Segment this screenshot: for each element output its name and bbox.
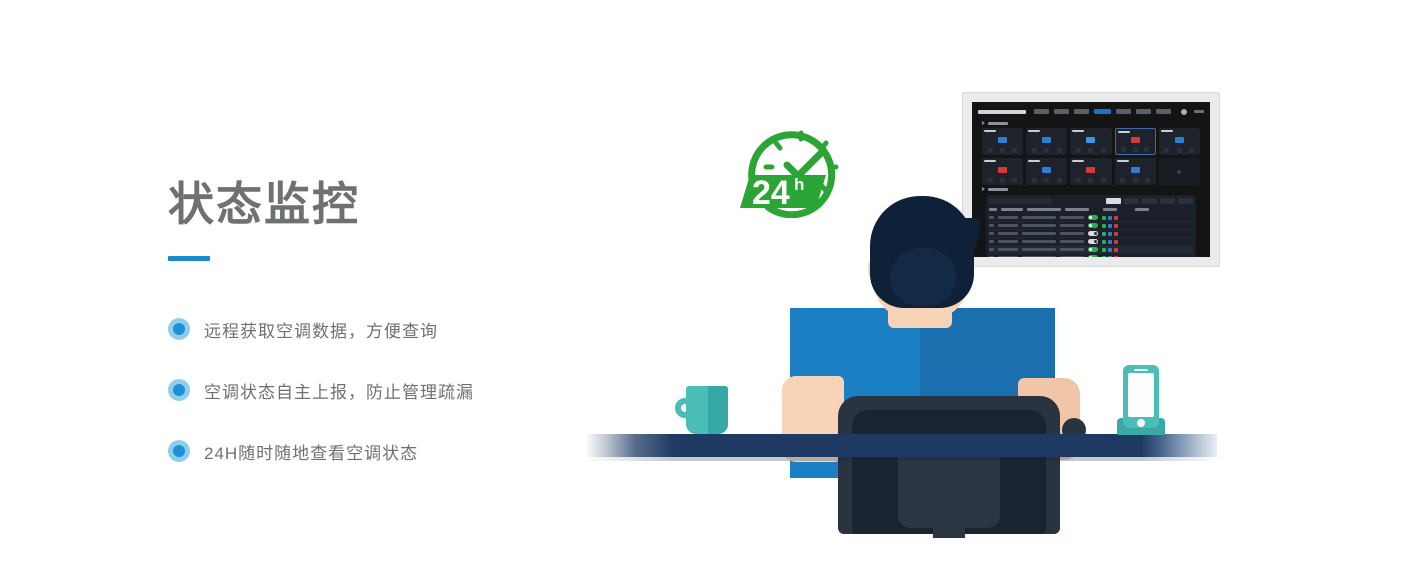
text-block: 状态监控 (168, 176, 588, 261)
device-card-grid (978, 128, 1204, 185)
chevron-right-icon[interactable] (982, 187, 985, 191)
toolbar-button[interactable] (1160, 198, 1175, 204)
device-card-label (1028, 160, 1040, 162)
status-toggle[interactable] (1088, 223, 1098, 228)
device-icon (1042, 137, 1051, 143)
device-card-selected[interactable] (1115, 128, 1156, 155)
toolbar-button-primary[interactable] (1106, 198, 1121, 204)
nav-item[interactable] (1034, 109, 1049, 114)
device-card[interactable] (982, 158, 1023, 185)
toolbar-button[interactable] (1178, 198, 1193, 204)
list-item-label: 24H随时随地查看空调状态 (204, 439, 418, 464)
device-icon (998, 137, 1007, 143)
device-icon-alarm (1131, 137, 1140, 143)
device-card-stats (1117, 178, 1154, 183)
nav-item[interactable] (1136, 109, 1151, 114)
device-card-stats (984, 148, 1021, 153)
device-card-label (1118, 131, 1130, 133)
nav-item-active[interactable] (1094, 109, 1111, 114)
device-icon (1175, 137, 1184, 143)
smartphone-on-dock (1117, 365, 1165, 437)
chevron-right-icon[interactable] (982, 121, 985, 125)
nav-item[interactable] (1074, 109, 1089, 114)
device-icon (1086, 137, 1095, 143)
row-actions (1102, 232, 1118, 236)
status-toggle[interactable] (1088, 247, 1098, 252)
section-title-label (988, 122, 1008, 125)
device-card-label (1161, 130, 1173, 132)
section-header-table (982, 187, 1204, 191)
status-toggle[interactable] (1088, 239, 1098, 244)
dashboard-brand (978, 110, 1026, 114)
toolbar-button[interactable] (1142, 198, 1157, 204)
status-toggle[interactable] (1088, 255, 1098, 257)
device-card-label (984, 130, 996, 132)
device-card-label (984, 160, 996, 162)
row-actions (1102, 248, 1118, 252)
user-name-label (1194, 110, 1204, 113)
user-avatar-icon[interactable] (1181, 109, 1187, 115)
phone-home-button-icon (1137, 419, 1145, 427)
blue-dot-icon (168, 379, 190, 401)
device-card-empty[interactable] (1159, 158, 1200, 185)
device-icon-alarm (998, 167, 1007, 173)
nav-item[interactable] (1156, 109, 1171, 114)
coffee-mug (676, 386, 728, 434)
row-actions (1102, 240, 1118, 244)
device-card[interactable] (1070, 158, 1111, 185)
device-icon (1042, 167, 1051, 173)
toolbar-button[interactable] (1124, 198, 1139, 204)
nav-item[interactable] (1116, 109, 1131, 114)
phone-screen (1128, 373, 1154, 417)
row-actions (1102, 224, 1118, 228)
row-actions (1102, 216, 1118, 220)
desk (585, 434, 1217, 457)
chair-pad-stem (933, 496, 965, 538)
person-at-desk (640, 196, 1080, 526)
dashboard-navbar (978, 106, 1204, 117)
device-icon-alarm (1086, 167, 1095, 173)
device-card[interactable] (1070, 128, 1111, 155)
device-card-stats (1072, 178, 1109, 183)
device-card-label (1072, 130, 1084, 132)
device-card-stats (1072, 148, 1109, 153)
device-icon (1131, 167, 1140, 173)
page-title: 状态监控 (168, 176, 588, 232)
dashboard-nav-items (1034, 109, 1204, 115)
device-card[interactable] (1026, 128, 1067, 155)
device-card-label (1117, 160, 1129, 162)
device-card[interactable] (1159, 128, 1200, 155)
hair-highlight (890, 248, 956, 306)
list-item: 24H随时随地查看空调状态 (168, 438, 628, 464)
list-item-label: 远程获取空调数据，方便查询 (204, 317, 438, 342)
mug-body (686, 386, 728, 434)
status-toggle[interactable] (1088, 215, 1098, 220)
device-card-label (1072, 160, 1084, 162)
section-title-label (988, 188, 1008, 191)
device-card-stats (1161, 148, 1198, 153)
list-item: 远程获取空调数据，方便查询 (168, 316, 628, 342)
device-card-stats (984, 178, 1021, 183)
badge-superscript: h (794, 175, 804, 194)
device-card-label (1028, 130, 1040, 132)
status-toggle[interactable] (1088, 231, 1098, 236)
plus-icon (1177, 170, 1181, 174)
hero-banner: 状态监控 远程获取空调数据，方便查询 空调状态自主上报，防止管理疏漏 24H随时… (0, 0, 1401, 584)
device-card[interactable] (1026, 158, 1067, 185)
device-card[interactable] (1115, 158, 1156, 185)
device-card-stats (1028, 178, 1065, 183)
feature-list: 远程获取空调数据，方便查询 空调状态自主上报，防止管理疏漏 24H随时随地查看空… (168, 316, 628, 499)
device-card-stats (1118, 147, 1153, 152)
column-header (1103, 208, 1117, 211)
blue-dot-icon (168, 440, 190, 462)
blue-dot-icon (168, 318, 190, 340)
list-item-label: 空调状态自主上报，防止管理疏漏 (204, 378, 474, 403)
device-card[interactable] (982, 128, 1023, 155)
row-actions (1102, 256, 1118, 258)
desk-shadow (585, 457, 1217, 461)
section-header-devices (982, 121, 1204, 125)
accent-bar (168, 256, 210, 261)
column-header (1135, 208, 1149, 211)
nav-item[interactable] (1054, 109, 1069, 114)
device-card-stats (1028, 148, 1065, 153)
phone-speaker (1134, 369, 1148, 371)
list-item: 空调状态自主上报，防止管理疏漏 (168, 377, 628, 403)
